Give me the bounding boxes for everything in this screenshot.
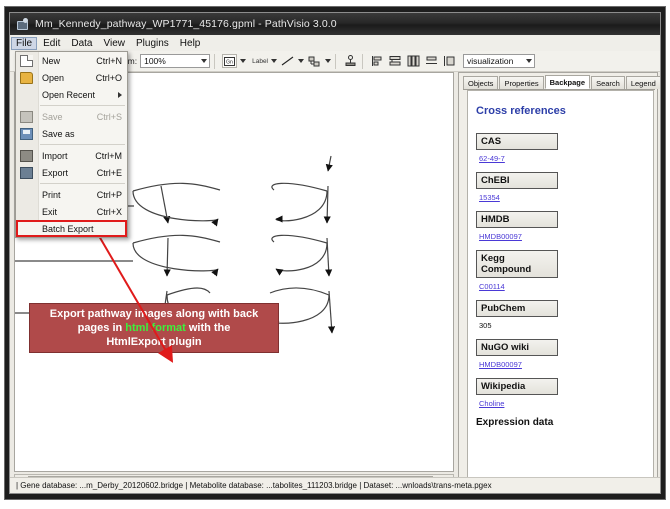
file-menu-popup[interactable]: New Ctrl+N Open Ctrl+O Open Recent Save …	[15, 51, 128, 238]
callout-line-1: Export pathway images along with back	[50, 308, 258, 320]
zoom-combo[interactable]: 100%	[140, 54, 210, 68]
label-dropdown-icon[interactable]	[271, 59, 277, 63]
file-menu-item-new-accel: Ctrl+N	[96, 56, 122, 66]
cross-reference-list: CAS62-49-7ChEBI15354HMDBHMDB00097Kegg Co…	[476, 133, 645, 408]
app-icon	[16, 18, 29, 31]
cross-references-heading: Cross references	[476, 105, 645, 117]
pathvisio-window: Mm_Kennedy_pathway_WP1771_45176.gpml - P…	[9, 12, 661, 494]
xref-source-kegg-compound: Kegg Compound	[476, 250, 558, 278]
callout-line-2a: pages in	[78, 322, 126, 334]
file-menu-item-exit[interactable]: Exit Ctrl+X	[16, 203, 127, 220]
toolbar-separator	[214, 54, 215, 69]
save-disk-icon	[20, 111, 33, 123]
pathway-edge	[272, 295, 329, 323]
pathway-edge	[167, 288, 210, 295]
file-menu-item-open[interactable]: Open Ctrl+O	[16, 69, 127, 86]
save-as-icon	[20, 128, 33, 140]
callout-line-2-highlight: html format	[125, 322, 186, 334]
file-menu-item-save-as-label: Save as	[42, 129, 75, 139]
xref-value-kegg-compound[interactable]: C00114	[479, 282, 645, 291]
gene-product-tool-icon[interactable]: Gn	[222, 54, 237, 68]
file-menu-item-import[interactable]: Import Ctrl+M	[16, 147, 127, 164]
xref-value-cas[interactable]: 62-49-7	[479, 154, 645, 163]
xref-source-chebi: ChEBI	[476, 172, 558, 189]
file-menu-item-batch-export-label: Batch Export	[42, 224, 94, 234]
annotation-callout: Export pathway images along with back pa…	[29, 303, 279, 353]
file-menu-item-open-recent[interactable]: Open Recent	[16, 86, 127, 103]
file-menu-item-export[interactable]: Export Ctrl+E	[16, 164, 127, 181]
tab-backpage[interactable]: Backpage	[545, 75, 590, 89]
file-menu-item-save: Save Ctrl+S	[16, 108, 127, 125]
align-left-tool-icon[interactable]	[370, 54, 385, 68]
toolbar-separator-3	[362, 54, 363, 69]
annotation-callout-text: Export pathway images along with back pa…	[50, 307, 258, 349]
new-document-icon	[20, 55, 33, 67]
file-menu-item-batch-export[interactable]: Batch Export	[16, 220, 127, 237]
file-menu-item-open-recent-label: Open Recent	[42, 90, 95, 100]
xref-source-nugo-wiki: NuGO wiki	[476, 339, 558, 356]
status-bar: | Gene database: ...m_Derby_20120602.bri…	[10, 477, 660, 493]
xref-source-wikipedia: Wikipedia	[476, 378, 558, 395]
expression-data-heading: Expression data	[476, 417, 645, 428]
menu-view[interactable]: View	[98, 37, 130, 50]
xref-value-hmdb[interactable]: HMDB00097	[479, 232, 645, 241]
pathway-edge	[133, 235, 220, 243]
file-menu-separator-1	[40, 105, 125, 106]
svg-text:Gn: Gn	[226, 59, 233, 65]
open-folder-icon	[20, 72, 33, 84]
file-menu-item-save-label: Save	[42, 112, 63, 122]
toolbar-separator-2	[335, 54, 336, 69]
file-menu-item-import-accel: Ctrl+M	[95, 151, 122, 161]
interaction-tool-icon[interactable]	[307, 54, 322, 68]
file-menu-item-exit-label: Exit	[42, 207, 57, 217]
distribute-tool-icon[interactable]	[406, 54, 421, 68]
menu-file[interactable]: File	[11, 37, 37, 50]
chevron-down-icon-2	[526, 59, 532, 63]
menu-help[interactable]: Help	[175, 37, 206, 50]
file-menu-item-new-label: New	[42, 56, 60, 66]
pathway-edge	[270, 288, 329, 295]
file-menu-item-print-label: Print	[42, 190, 61, 200]
pathway-edge	[133, 191, 218, 221]
submenu-arrow-icon	[118, 92, 122, 98]
file-menu-item-exit-accel: Ctrl+X	[97, 207, 122, 217]
tab-legend[interactable]: Legend	[626, 76, 661, 89]
file-menu-item-export-label: Export	[42, 168, 68, 178]
file-menu-item-export-accel: Ctrl+E	[97, 168, 122, 178]
pathway-edge	[272, 183, 327, 191]
file-menu-item-new[interactable]: New Ctrl+N	[16, 52, 127, 69]
xref-link[interactable]: 62-49-7	[479, 154, 505, 163]
pathway-edge	[133, 243, 218, 271]
file-menu-item-save-as[interactable]: Save as	[16, 125, 127, 142]
xref-source-hmdb: HMDB	[476, 211, 558, 228]
backpage-content: Cross references CAS62-49-7ChEBI15354HMD…	[467, 90, 654, 482]
align-stack-tool-icon[interactable]	[388, 54, 403, 68]
file-menu-item-open-accel: Ctrl+O	[96, 73, 122, 83]
pathway-edge	[276, 191, 327, 221]
file-menu-item-open-label: Open	[42, 73, 64, 83]
xref-value-chebi[interactable]: 15354	[479, 193, 645, 202]
chevron-down-icon	[201, 59, 207, 63]
file-menu-separator-3	[40, 183, 125, 184]
gene-product-dropdown-icon[interactable]	[240, 59, 246, 63]
file-menu-item-print-accel: Ctrl+P	[97, 190, 122, 200]
xref-source-cas: CAS	[476, 133, 558, 150]
visualization-combo[interactable]: visualization	[463, 54, 535, 68]
pathway-edge	[328, 156, 331, 171]
common-height-tool-icon[interactable]	[442, 54, 457, 68]
xref-value-nugo-wiki[interactable]: HMDB00097	[479, 360, 645, 369]
interaction-dropdown-icon[interactable]	[325, 59, 331, 63]
menu-edit[interactable]: Edit	[38, 37, 65, 50]
import-icon	[20, 150, 33, 162]
pathway-edge	[133, 183, 220, 191]
screenshot-root: Mm_Kennedy_pathway_WP1771_45176.gpml - P…	[0, 0, 670, 509]
callout-line-3: HtmlExport plugin	[106, 336, 201, 348]
anchor-tool-icon[interactable]	[343, 54, 358, 68]
tab-objects[interactable]: Objects	[463, 76, 498, 89]
file-menu-item-save-accel: Ctrl+S	[97, 112, 122, 122]
menu-data[interactable]: Data	[66, 37, 97, 50]
xref-link[interactable]: Choline	[479, 399, 504, 408]
label-tool-label[interactable]: Label	[252, 58, 268, 65]
line-tool-icon[interactable]	[280, 54, 295, 68]
file-menu-item-import-label: Import	[42, 151, 68, 161]
xref-link[interactable]: HMDB00097	[479, 232, 522, 241]
visualization-combo-value: visualization	[467, 56, 513, 66]
file-menu-item-print[interactable]: Print Ctrl+P	[16, 186, 127, 203]
common-width-tool-icon[interactable]	[424, 54, 439, 68]
window-title: Mm_Kennedy_pathway_WP1771_45176.gpml - P…	[35, 18, 337, 30]
callout-line-2b: with the	[186, 322, 231, 334]
xref-link[interactable]: C00114	[479, 282, 505, 291]
xref-link[interactable]: 15354	[479, 193, 500, 202]
pathway-edge	[272, 235, 327, 243]
export-icon	[20, 167, 33, 179]
line-dropdown-icon[interactable]	[298, 59, 304, 63]
side-panel-tabs: Objects Properties Backpage Search Legen…	[463, 75, 655, 90]
xref-link[interactable]: HMDB00097	[479, 360, 522, 369]
side-panel: Objects Properties Backpage Search Legen…	[458, 72, 658, 486]
xref-value-wikipedia[interactable]: Choline	[479, 399, 645, 408]
pathway-edge	[276, 243, 327, 271]
tab-search[interactable]: Search	[591, 76, 625, 89]
menu-plugins[interactable]: Plugins	[131, 37, 174, 50]
status-bar-text: | Gene database: ...m_Derby_20120602.bri…	[16, 481, 492, 490]
xref-value-pubchem: 305	[479, 321, 645, 330]
xref-source-pubchem: PubChem	[476, 300, 558, 317]
title-bar: Mm_Kennedy_pathway_WP1771_45176.gpml - P…	[10, 13, 660, 35]
zoom-combo-value: 100%	[144, 56, 166, 66]
pathway-edge	[167, 238, 168, 276]
file-menu-separator-2	[40, 144, 125, 145]
menu-bar: File Edit Data View Plugins Help	[10, 35, 660, 52]
tab-properties[interactable]: Properties	[499, 76, 543, 89]
